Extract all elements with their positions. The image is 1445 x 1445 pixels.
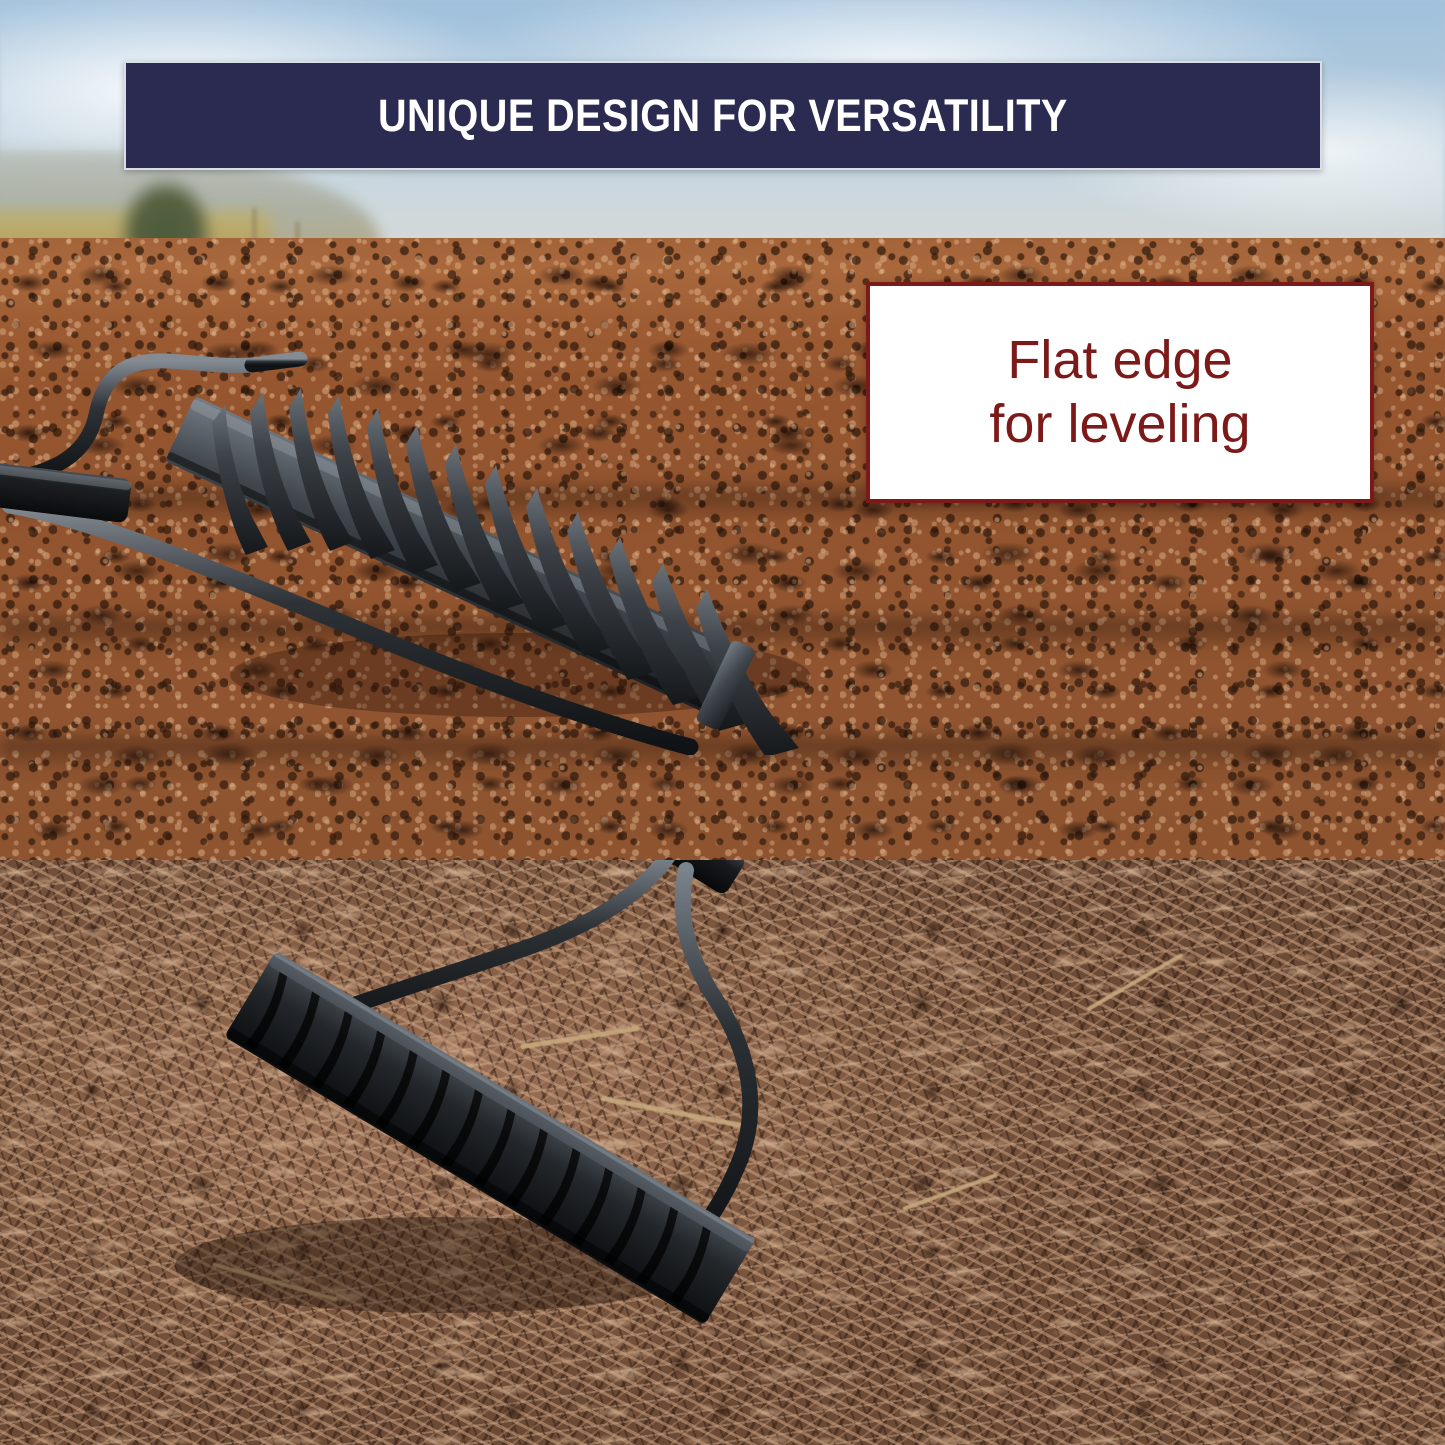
bow-rake-front-illustration	[0, 255, 900, 755]
bottom-photo-panel: Ribbed teeth & reinforced ridges for add…	[0, 860, 1445, 1445]
bow-rake-back-illustration	[120, 860, 880, 1370]
header-banner-title: UNIQUE DESIGN FOR VERSATILITY	[378, 90, 1068, 142]
callout-flat-edge-line-1: Flat edge	[1007, 329, 1232, 393]
callout-flat-edge: Flat edge for leveling	[866, 282, 1374, 503]
product-feature-image: Flat edge for leveling	[0, 0, 1445, 1445]
header-banner: UNIQUE DESIGN FOR VERSATILITY	[124, 61, 1322, 170]
callout-flat-edge-line-2: for leveling	[989, 393, 1250, 457]
